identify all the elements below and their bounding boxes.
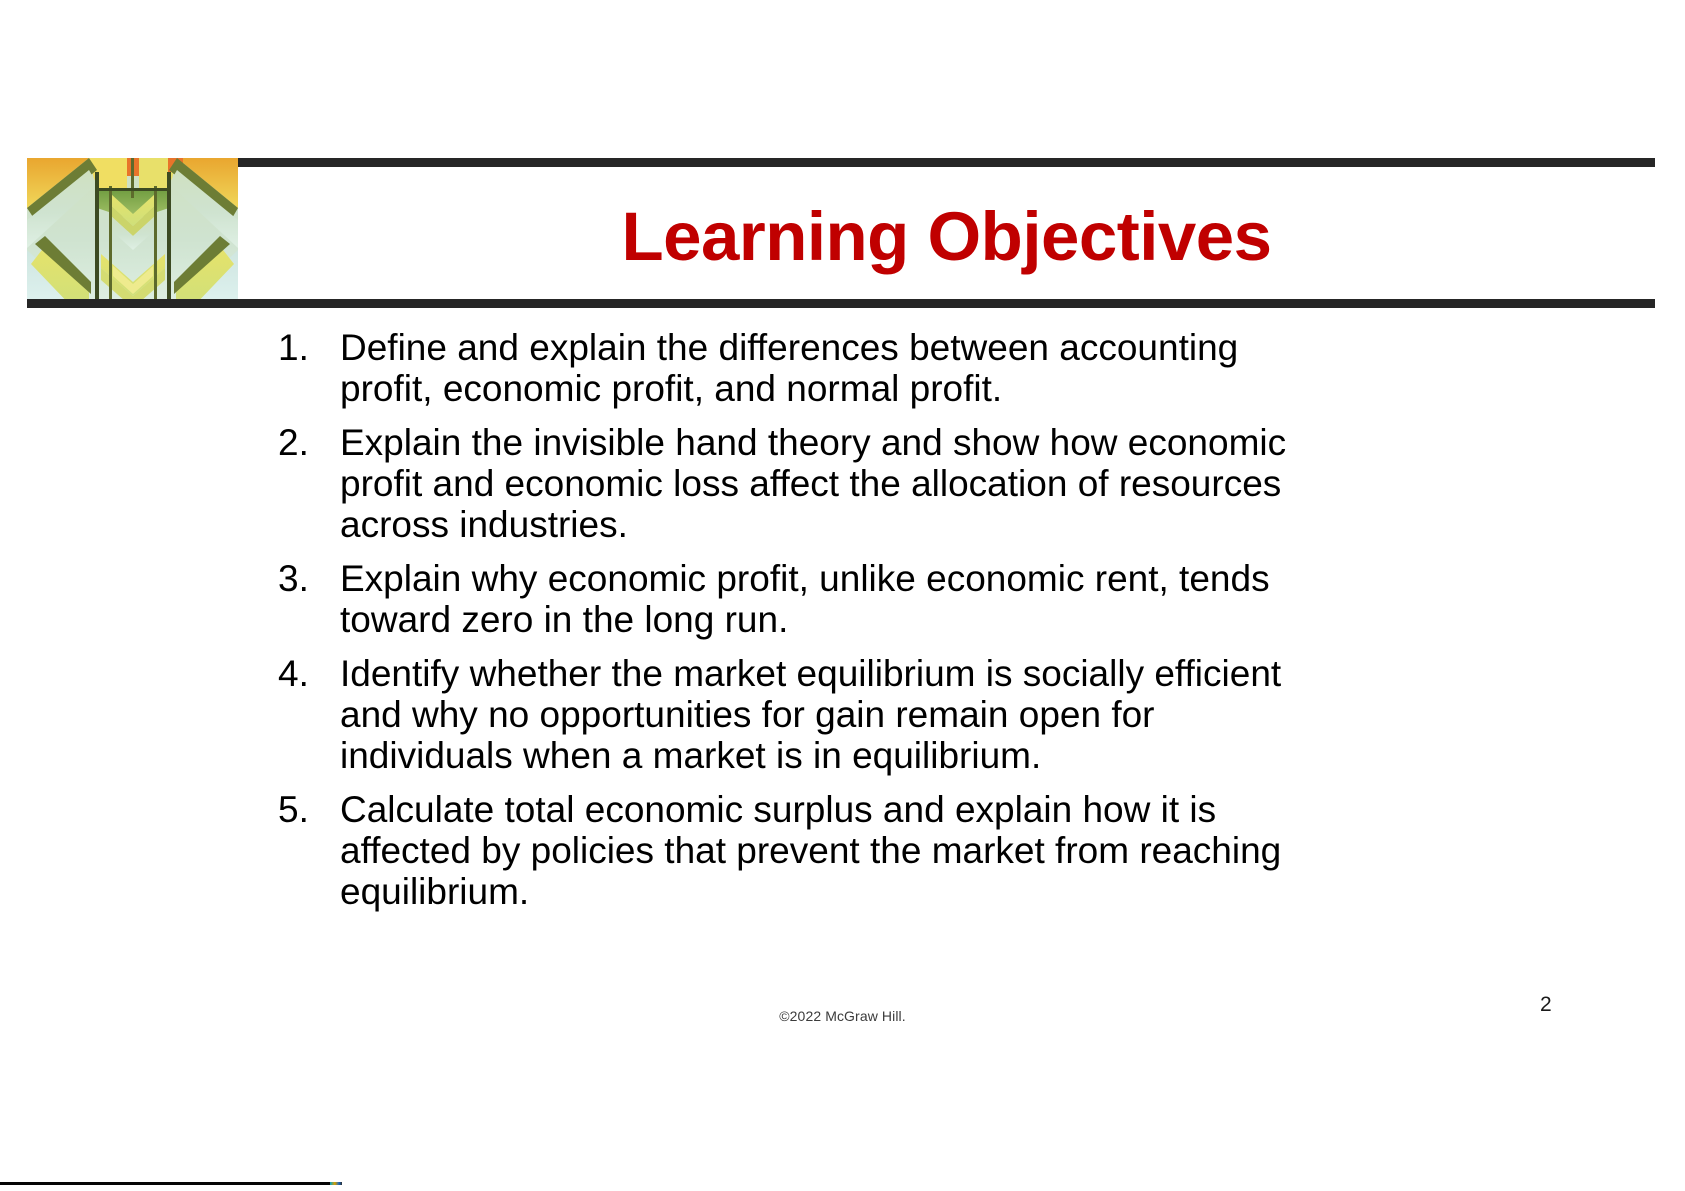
list-item-number: 5.	[278, 789, 340, 830]
list-item-text: Explain the invisible hand theory and sh…	[340, 422, 1308, 545]
bottom-divider-accent	[330, 1182, 342, 1185]
page-title: Learning Objectives	[238, 176, 1655, 296]
header-rule-top	[27, 158, 1655, 167]
list-item: 1. Define and explain the differences be…	[278, 327, 1308, 409]
list-item-text: Identify whether the market equilibrium …	[340, 653, 1308, 776]
bottom-divider	[0, 1182, 330, 1185]
list-item-number: 2.	[278, 422, 340, 463]
slide-canvas: Learning Objectives 1. Define and explai…	[0, 0, 1685, 1191]
learning-objectives-list: 1. Define and explain the differences be…	[278, 327, 1308, 925]
list-item-text: Define and explain the differences betwe…	[340, 327, 1308, 409]
list-item-number: 4.	[278, 653, 340, 694]
list-item-text: Calculate total economic surplus and exp…	[340, 789, 1308, 912]
list-item-number: 3.	[278, 558, 340, 599]
list-item: 5. Calculate total economic surplus and …	[278, 789, 1308, 912]
copyright-notice: ©2022 McGraw Hill.	[0, 1008, 1685, 1024]
list-item-number: 1.	[278, 327, 340, 368]
list-item: 2. Explain the invisible hand theory and…	[278, 422, 1308, 545]
header-rule-bottom	[27, 299, 1655, 308]
page-number: 2	[1540, 993, 1600, 1017]
stained-glass-art-icon	[27, 158, 238, 308]
list-item: 4. Identify whether the market equilibri…	[278, 653, 1308, 776]
list-item-text: Explain why economic profit, unlike econ…	[340, 558, 1308, 640]
list-item: 3. Explain why economic profit, unlike e…	[278, 558, 1308, 640]
